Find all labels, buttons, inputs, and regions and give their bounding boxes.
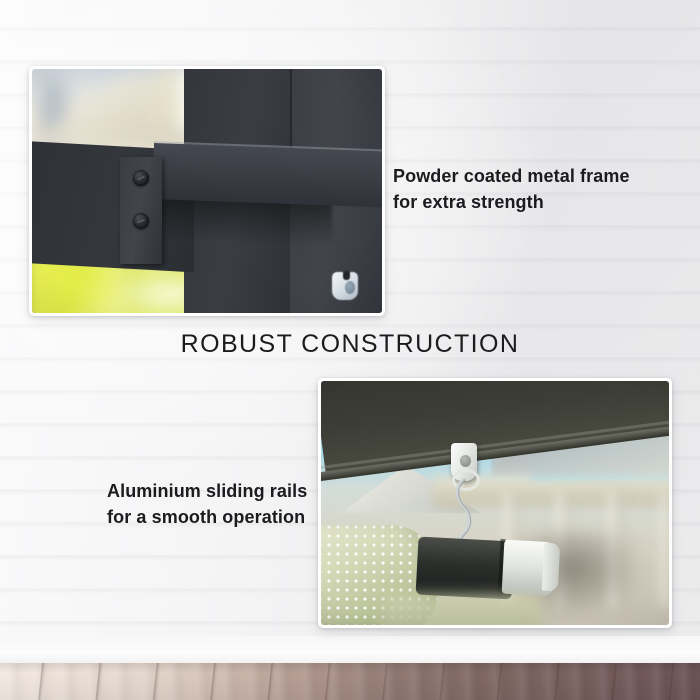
metal-post-seam — [290, 69, 292, 149]
roller-glider-pin — [460, 455, 471, 467]
feature-photo-aluminium-sliding-rails — [318, 378, 672, 628]
page-title: ROBUST CONSTRUCTION — [0, 330, 700, 359]
wall-baseboard — [0, 636, 700, 666]
wood-floor — [0, 663, 700, 700]
metal-beam-horizontal — [154, 143, 382, 208]
glider-clip-hole — [345, 281, 355, 294]
glider-clip-notch — [343, 271, 350, 280]
feature-caption-powder-coated-frame: Powder coated metal frame for extra stre… — [393, 163, 663, 215]
feature-photo-powder-coated-frame — [29, 66, 385, 316]
foreground-fabric-blur — [381, 595, 541, 625]
photo-bottom-inner — [321, 381, 669, 625]
feature-caption-aluminium-sliding-rails: Aluminium sliding rails for a smooth ope… — [107, 478, 347, 530]
canopy-pole-end-cap — [542, 543, 560, 592]
product-feature-panel: Powder coated metal frame for extra stre… — [0, 0, 700, 700]
photo-top-inner — [32, 69, 382, 313]
